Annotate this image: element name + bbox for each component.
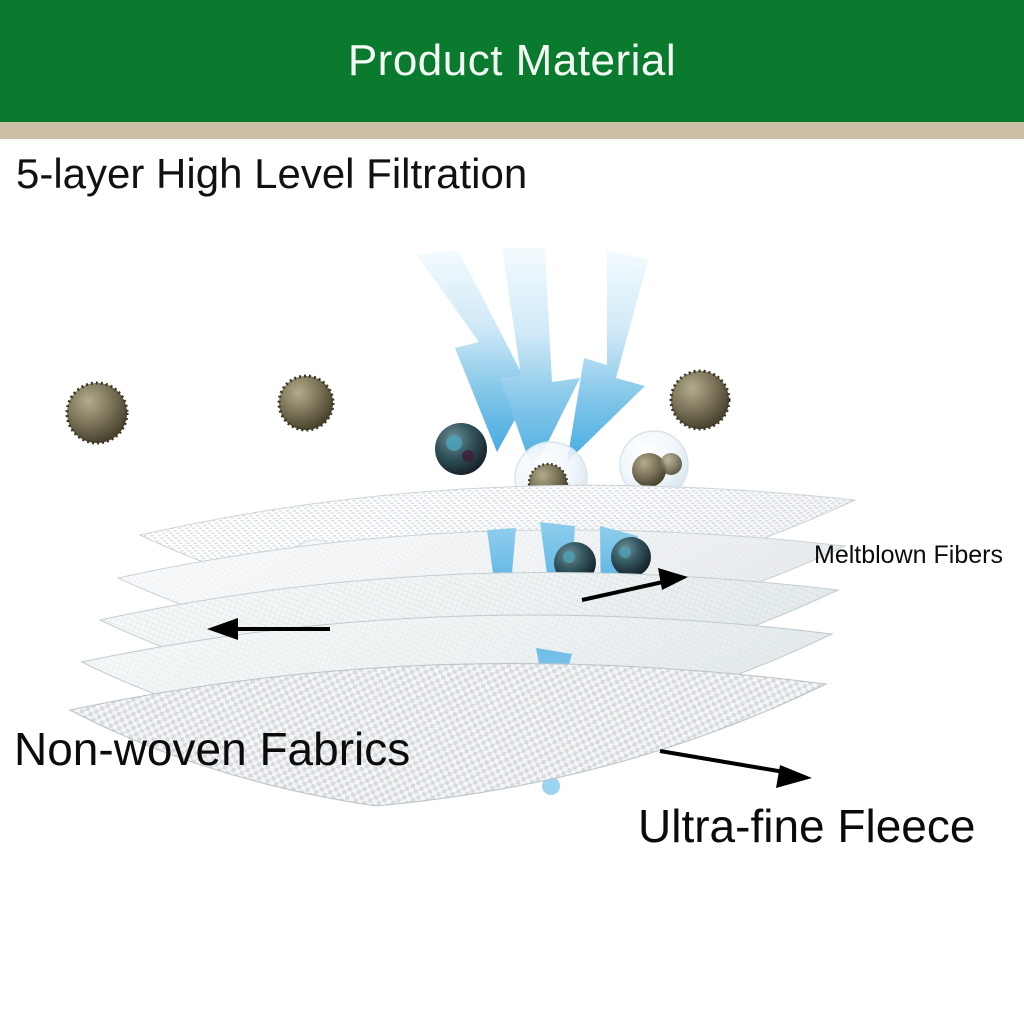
product-material-infographic: Product Material 5-layer High Level Filt… — [0, 0, 1024, 1024]
callout-label-meltblown-fibers: Meltblown Fibers — [814, 543, 1003, 568]
page-title: Product Material — [348, 39, 676, 83]
subtitle-heading: 5-layer High Level Filtration — [16, 152, 527, 196]
spiky-particle — [671, 371, 729, 429]
spiky-particle — [67, 383, 127, 443]
virus-particle — [435, 423, 487, 475]
callout-arrow-ultra-fine-fleece — [660, 751, 812, 788]
callout-label-non-woven-fabrics: Non-woven Fabrics — [14, 726, 410, 772]
callout-label-ultra-fine-fleece: Ultra-fine Fleece — [638, 803, 975, 849]
header-divider-rule — [0, 122, 1024, 139]
virus-particle — [611, 537, 651, 577]
spiky-particle — [279, 376, 333, 430]
header-banner: Product Material — [0, 0, 1024, 122]
